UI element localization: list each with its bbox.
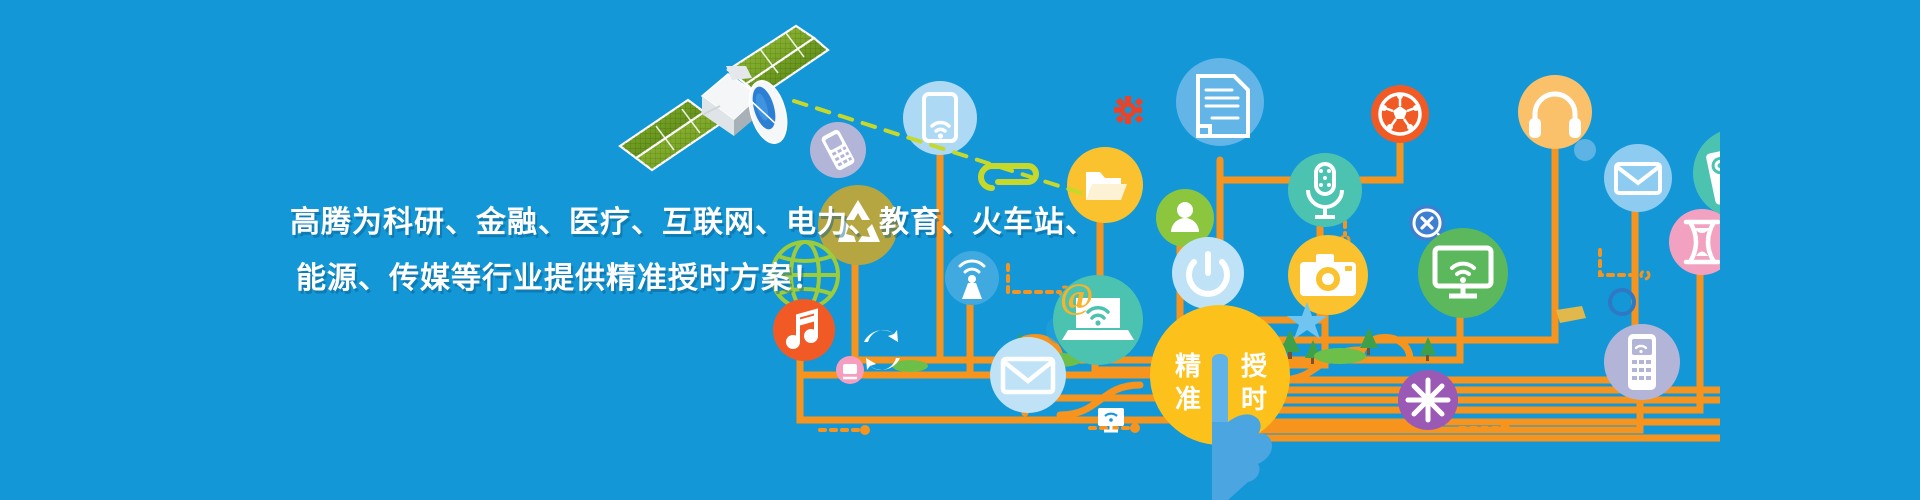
ebook-device-icon[interactable] — [1693, 128, 1720, 218]
satellite-illustration — [600, 8, 860, 188]
headphones-icon[interactable] — [1518, 75, 1592, 149]
badge-char-3: 授 — [1241, 352, 1268, 382]
ring-icon[interactable] — [1610, 290, 1634, 314]
camera-icon[interactable] — [1288, 235, 1368, 315]
document-icon[interactable] — [1176, 58, 1264, 146]
badge-char-4: 时 — [1241, 385, 1267, 415]
broadcast-tower-icon[interactable] — [945, 251, 999, 305]
music-note-icon[interactable] — [773, 299, 835, 361]
tag-icon[interactable] — [1556, 306, 1586, 323]
badge-char-2: 准 — [1175, 385, 1201, 415]
stamp-icon[interactable] — [836, 356, 864, 384]
badge-char-1: 精 — [1175, 352, 1201, 382]
svg-text:@: @ — [1060, 276, 1094, 316]
at-sign-icon[interactable]: @ — [1060, 276, 1094, 316]
microphone-icon[interactable] — [1288, 153, 1362, 227]
snowflake-icon[interactable] — [1398, 370, 1458, 430]
envelope-icon[interactable] — [990, 337, 1066, 413]
envelope-icon[interactable] — [1604, 144, 1672, 212]
hourglass-icon[interactable] — [1669, 209, 1720, 275]
gear-icon[interactable] — [1114, 96, 1143, 124]
globe-outline-icon[interactable] — [772, 242, 838, 308]
power-button-icon[interactable] — [1172, 237, 1244, 309]
refresh-arrows-icon[interactable] — [864, 330, 900, 370]
hero-banner: 高腾为科研、金融、医疗、互联网、电力、教育、火车站、 能源、传媒等行业提供精准授… — [0, 0, 1920, 500]
flip-phone-icon[interactable] — [1604, 324, 1680, 400]
soccer-ball-icon[interactable] — [1371, 85, 1429, 143]
monitor-wifi-icon[interactable] — [1418, 228, 1508, 318]
